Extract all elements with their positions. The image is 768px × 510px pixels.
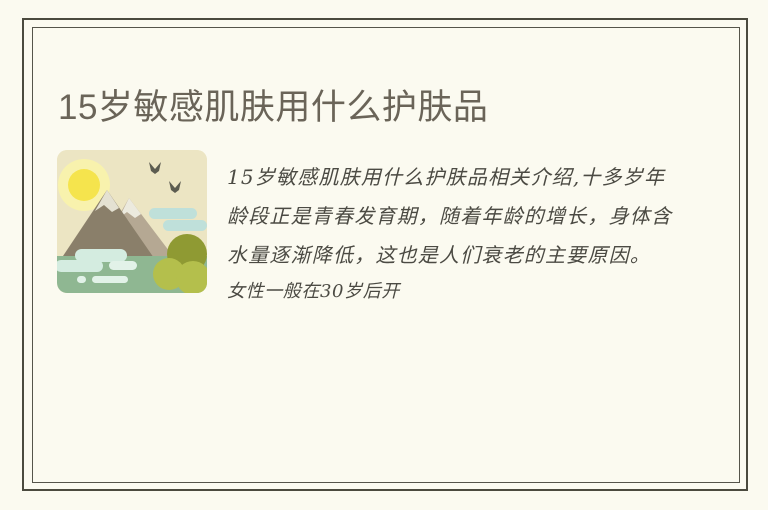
cloud-shape bbox=[149, 208, 197, 219]
article-paragraph: 15岁敏感肌肤用什么护肤品相关介绍,十多岁年龄段正是青春发育期，随着年龄的增长，… bbox=[227, 158, 677, 275]
mist-shape bbox=[109, 261, 137, 270]
article-paragraph-tail: 女性一般在30岁后开 bbox=[227, 275, 677, 309]
page-title: 15岁敏感肌肤用什么护肤品 bbox=[58, 85, 698, 131]
article-body: 15岁敏感肌肤用什么护肤品相关介绍,十多岁年龄段正是青春发育期，随着年龄的增长，… bbox=[227, 158, 677, 309]
article-content-row: 15岁敏感肌肤用什么护肤品相关介绍,十多岁年龄段正是青春发育期，随着年龄的增长，… bbox=[57, 150, 677, 430]
cloud-shape bbox=[163, 220, 207, 231]
landscape-illustration bbox=[57, 150, 207, 293]
sun-core-icon bbox=[68, 169, 100, 201]
article-card-page: 15岁敏感肌肤用什么护肤品 bbox=[0, 0, 768, 510]
mist-shape bbox=[92, 276, 128, 283]
mist-shape bbox=[77, 276, 86, 283]
landscape-illustration-svg bbox=[57, 150, 207, 293]
mist-shape bbox=[57, 260, 103, 272]
